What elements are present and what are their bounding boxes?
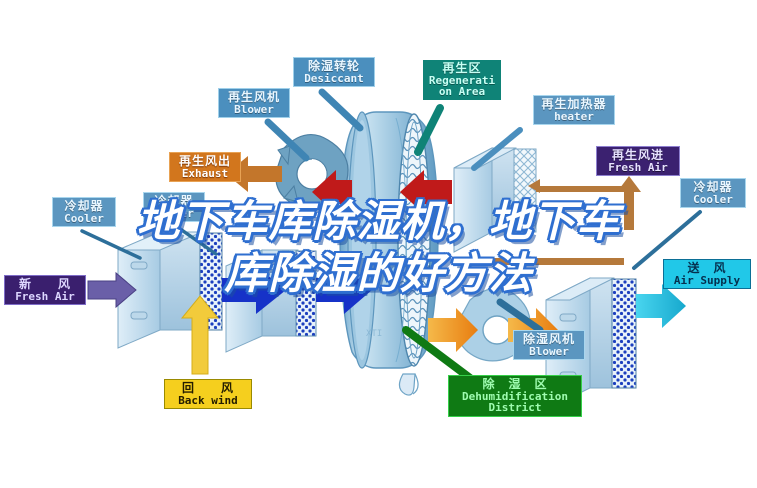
label-fresh-air-en: Fresh Air — [9, 291, 81, 303]
label-fresh-air-cn: 新 风 — [9, 278, 81, 291]
label-regen-heater[interactable]: 再生加热器 heater — [533, 95, 615, 125]
label-desiccant-en: Desiccant — [298, 73, 370, 85]
label-regen-exhaust-en: Exhaust — [174, 168, 236, 180]
leader-cooler-mid — [176, 226, 216, 254]
label-fresh-air[interactable]: 新 风 Fresh Air — [4, 275, 86, 305]
label-dehum-blower[interactable]: 除湿风机 Blower — [513, 330, 585, 360]
diagram-canvas: XTI — [0, 0, 757, 488]
label-dehum-district-en2: District — [453, 402, 577, 414]
leader-desiccant — [322, 92, 360, 128]
label-cooler-mid-en: Cooler — [148, 208, 200, 220]
label-regen-blower-cn: 再生风机 — [223, 91, 285, 104]
label-cooler-mid[interactable]: 冷却器 Cooler — [143, 192, 205, 222]
label-desiccant[interactable]: 除湿转轮 Desiccant — [293, 57, 375, 87]
label-cooler-right-cn: 冷却器 — [685, 181, 741, 194]
label-dehum-district-cn: 除 湿 区 — [453, 378, 577, 391]
leader-cooler-left — [82, 231, 140, 258]
flow-dry-air-out — [636, 284, 686, 328]
label-cooler-left-cn: 冷却器 — [57, 200, 111, 213]
label-regen-fresh-air-en: Fresh Air — [601, 162, 675, 174]
leader-lines — [82, 92, 700, 378]
label-cooler-left-en: Cooler — [57, 213, 111, 225]
leader-regen-blower — [268, 122, 306, 158]
label-back-wind-cn: 回 风 — [169, 382, 247, 395]
label-air-supply-en: Air Supply — [668, 275, 746, 287]
label-cooler-right-en: Cooler — [685, 194, 741, 206]
label-regen-fresh-air-cn: 再生风进 — [601, 149, 675, 162]
label-regen-exhaust[interactable]: 再生风出 Exhaust — [169, 152, 241, 182]
label-regeneration-area[interactable]: 再生区 Regenerati on Area — [423, 60, 501, 100]
label-regen-heater-en: heater — [538, 111, 610, 123]
flow-regen-fresh-in — [452, 176, 641, 265]
flow-back-wind-up — [182, 296, 218, 374]
label-regeneration-cn: 再生区 — [427, 62, 497, 75]
diagram-flow-arrows — [0, 0, 757, 488]
flow-process-air — [222, 266, 372, 314]
label-air-supply-cn: 送 风 — [668, 262, 746, 275]
label-air-supply[interactable]: 送 风 Air Supply — [663, 259, 751, 289]
label-regen-blower[interactable]: 再生风机 Blower — [218, 88, 290, 118]
label-desiccant-cn: 除湿转轮 — [298, 60, 370, 73]
flow-fresh-air-in — [88, 273, 136, 307]
label-cooler-mid-cn: 冷却器 — [148, 195, 200, 208]
label-regen-blower-en: Blower — [223, 104, 285, 116]
flow-regen-heated — [312, 170, 452, 214]
label-regen-fresh-air[interactable]: 再生风进 Fresh Air — [596, 146, 680, 176]
label-cooler-right[interactable]: 冷却器 Cooler — [680, 178, 746, 208]
label-dehum-blower-en: Blower — [518, 346, 580, 358]
label-dehumidification-district[interactable]: 除 湿 区 Dehumidification District — [448, 375, 582, 417]
label-back-wind-en: Back wind — [169, 395, 247, 407]
leader-regeneration — [418, 108, 440, 152]
leader-regen-heater — [474, 130, 520, 168]
label-cooler-left[interactable]: 冷却器 Cooler — [52, 197, 116, 227]
label-dehum-blower-cn: 除湿风机 — [518, 333, 580, 346]
label-back-wind[interactable]: 回 风 Back wind — [164, 379, 252, 409]
label-regen-heater-cn: 再生加热器 — [538, 98, 610, 111]
label-regen-exhaust-cn: 再生风出 — [174, 155, 236, 168]
label-regeneration-en2: on Area — [427, 86, 497, 98]
